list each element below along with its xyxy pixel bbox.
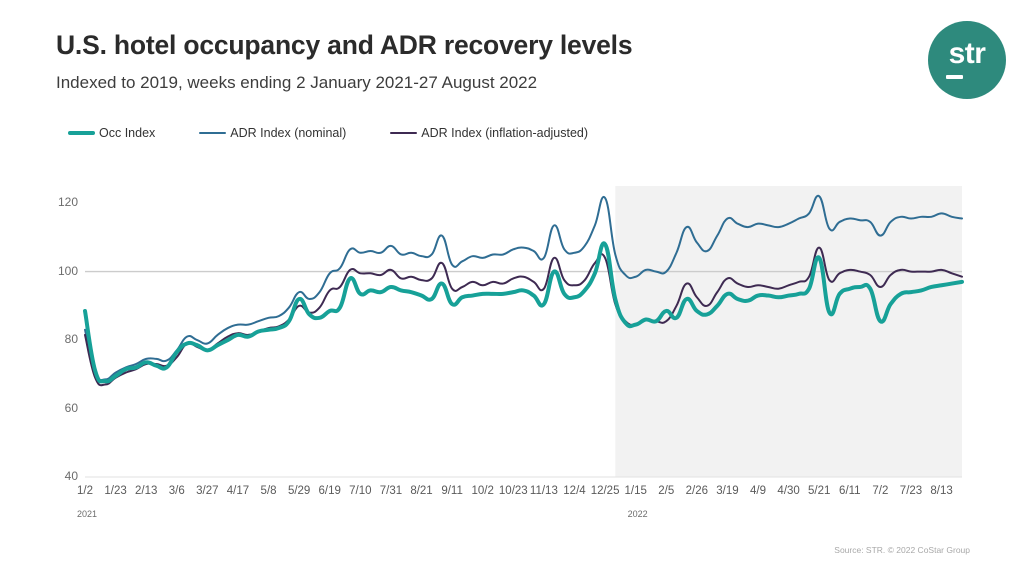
x-axis-tick-label: 4/9: [750, 485, 766, 497]
x-axis-tick-label: 2/5: [658, 485, 674, 497]
x-axis-tick-label: 4/30: [777, 485, 799, 497]
slide-canvas: U.S. hotel occupancy and ADR recovery le…: [0, 0, 1024, 576]
x-axis-tick-label: 5/29: [288, 485, 310, 497]
x-axis-tick-label: 11/13: [530, 485, 558, 497]
y-axis-tick-label: 60: [48, 401, 78, 415]
y-axis-tick-label: 100: [48, 264, 78, 278]
x-axis-tick-label: 10/23: [499, 485, 528, 497]
x-axis-tick-label: 10/2: [472, 485, 494, 497]
x-axis-tick-label: 7/23: [900, 485, 922, 497]
x-axis-tick-label: 12/25: [591, 485, 620, 497]
x-axis-tick-label: 6/19: [319, 485, 341, 497]
x-axis-tick-label: 7/2: [872, 485, 888, 497]
shaded-region-2022: [615, 186, 962, 477]
x-axis-year-label: 2021: [77, 509, 97, 519]
y-axis-tick-label: 120: [48, 195, 78, 209]
x-axis-tick-label: 5/21: [808, 485, 830, 497]
chart-plot-area: 4060801001201/21/232/133/63/274/175/85/2…: [0, 0, 1024, 576]
x-axis-tick-label: 3/19: [716, 485, 738, 497]
source-note: Source: STR. © 2022 CoStar Group: [834, 545, 970, 555]
x-axis-tick-label: 3/6: [169, 485, 185, 497]
x-axis-tick-label: 7/31: [380, 485, 402, 497]
x-axis-tick-label: 1/15: [624, 485, 646, 497]
x-axis-tick-label: 1/23: [104, 485, 126, 497]
x-axis-tick-label: 2/26: [686, 485, 708, 497]
x-axis-tick-label: 12/4: [563, 485, 585, 497]
y-axis-tick-label: 40: [48, 469, 78, 483]
y-axis-tick-label: 80: [48, 332, 78, 346]
x-axis-tick-label: 8/13: [930, 485, 952, 497]
x-axis-tick-label: 1/2: [77, 485, 93, 497]
x-axis-tick-label: 6/11: [839, 485, 861, 497]
x-axis-year-label: 2022: [628, 509, 648, 519]
x-axis-tick-label: 7/10: [349, 485, 371, 497]
x-axis-tick-label: 8/21: [410, 485, 432, 497]
x-axis-tick-label: 9/11: [441, 485, 463, 497]
x-axis-tick-label: 5/8: [261, 485, 277, 497]
x-axis-tick-label: 3/27: [196, 485, 218, 497]
x-axis-tick-label: 4/17: [227, 485, 249, 497]
x-axis-tick-label: 2/13: [135, 485, 157, 497]
